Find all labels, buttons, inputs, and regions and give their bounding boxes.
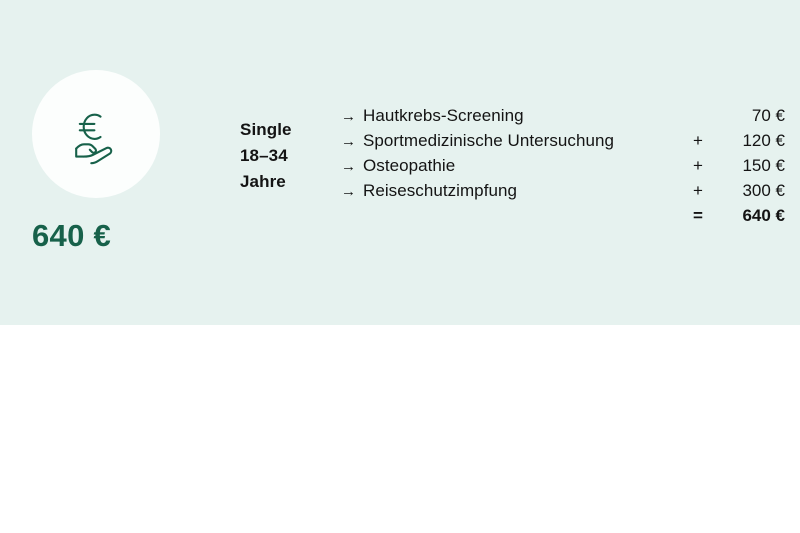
operator-symbol: +: [693, 178, 719, 203]
arrow-right-icon: →: [341, 179, 363, 204]
operator-symbol: =: [693, 203, 719, 228]
operator-symbol: +: [693, 153, 719, 178]
service-amount: 120 €: [719, 128, 785, 153]
arrow-right-icon: →: [341, 154, 363, 179]
total-amount: 640 €: [719, 203, 785, 228]
segment-label-line-1: Single: [240, 117, 292, 143]
service-list: → Hautkrebs-Screening 70 € → Sportmedizi…: [341, 103, 785, 229]
segment-label-line-3: Jahre: [240, 169, 292, 195]
service-amount: 150 €: [719, 153, 785, 178]
list-item: → Sportmedizinische Untersuchung + 120 €: [341, 128, 785, 153]
segment-label-line-2: 18–34: [240, 143, 292, 169]
service-amount: 70 €: [719, 103, 785, 128]
list-item: → Reiseschutzimpfung + 300 €: [341, 178, 785, 203]
infographic-root: 640 € Single 18–34 Jahre → Hautkrebs-Scr…: [0, 0, 800, 533]
list-item: → Hautkrebs-Screening 70 €: [341, 103, 785, 128]
service-name: Osteopathie: [363, 153, 693, 178]
service-name: Reiseschutzimpfung: [363, 178, 693, 203]
total-row: = 640 €: [341, 203, 785, 229]
total-price-large: 640 €: [32, 220, 232, 251]
service-name: Sportmedizinische Untersuchung: [363, 128, 693, 153]
service-amount: 300 €: [719, 178, 785, 203]
icon-badge-circle: [32, 70, 160, 198]
euro-in-hand-icon: [64, 102, 128, 166]
service-name: Hautkrebs-Screening: [363, 103, 693, 128]
operator-symbol: +: [693, 128, 719, 153]
badge-column: 640 €: [32, 70, 232, 251]
arrow-right-icon: →: [341, 104, 363, 129]
list-item: → Osteopathie + 150 €: [341, 153, 785, 178]
segment-label: Single 18–34 Jahre: [240, 117, 292, 194]
arrow-right-icon: →: [341, 129, 363, 154]
